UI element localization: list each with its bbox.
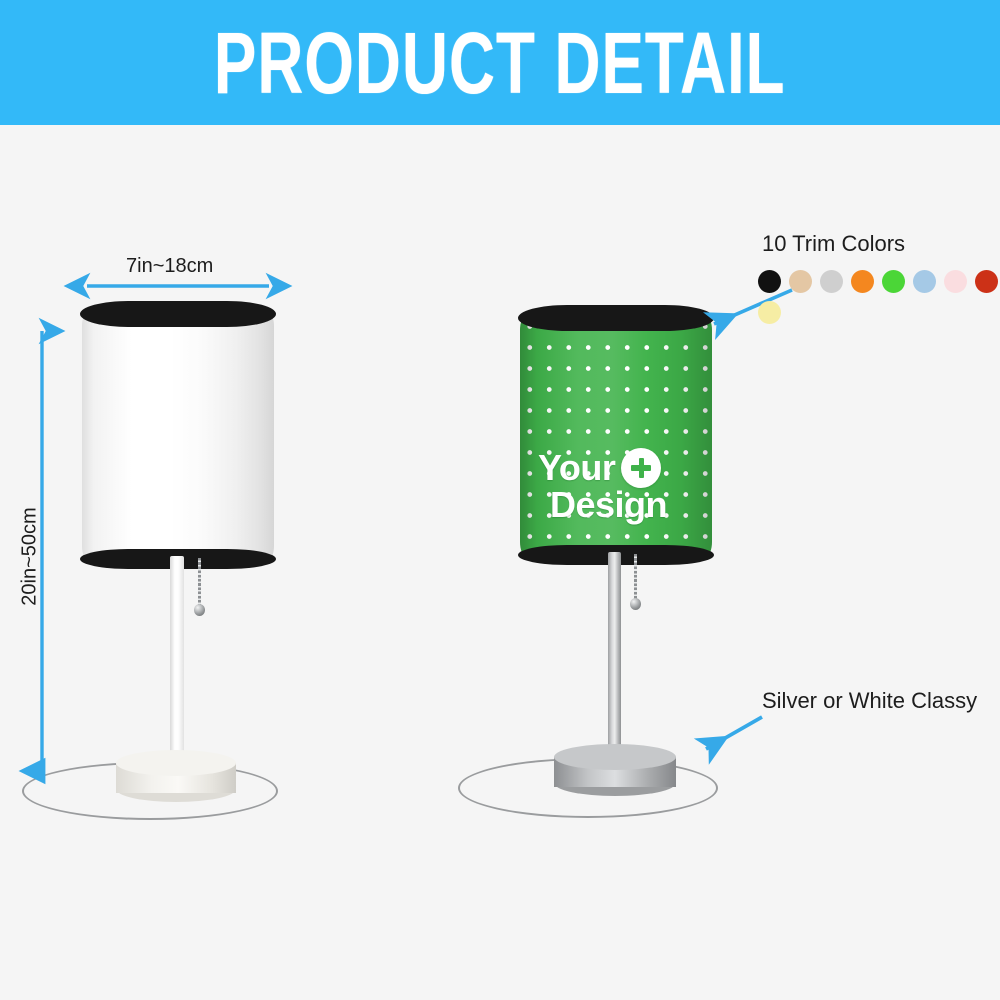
white-lamp-pull-chain[interactable] xyxy=(198,558,212,620)
pull-chain-beads xyxy=(634,554,637,600)
swatch-orange[interactable] xyxy=(851,270,874,293)
swatch-tan[interactable] xyxy=(789,270,812,293)
white-lamp-pole xyxy=(170,556,184,764)
design-line-2: Design xyxy=(538,488,667,522)
white-base-top xyxy=(116,750,236,776)
pull-chain-beads xyxy=(198,558,201,606)
swatch-pale-yellow[interactable] xyxy=(758,301,781,324)
swatch-black[interactable] xyxy=(758,270,781,293)
trim-swatch-row-1 xyxy=(758,270,998,293)
width-dimension-label: 7in~18cm xyxy=(126,255,213,278)
green-shade-top-trim xyxy=(518,305,714,331)
design-placeholder: Your Design xyxy=(538,448,667,522)
page-title: PRODUCT DETAIL xyxy=(214,19,786,106)
trim-colors-title: 10 Trim Colors xyxy=(762,231,905,257)
trim-swatch-row-2 xyxy=(758,301,998,324)
white-shade-surface xyxy=(82,312,274,560)
width-dimension-arrow xyxy=(78,276,278,296)
height-dimension-label: 20in~50cm xyxy=(19,487,42,627)
swatch-green[interactable] xyxy=(882,270,905,293)
base-finish-label: Silver or White Classy xyxy=(762,688,977,714)
green-lamp-pole xyxy=(608,552,621,760)
white-lamp-shade xyxy=(82,312,274,560)
swatch-red[interactable] xyxy=(975,270,998,293)
green-shade-surface: Your Design xyxy=(520,316,712,556)
trim-color-swatches xyxy=(758,270,998,332)
pull-chain-knob xyxy=(630,598,641,610)
silver-base-top xyxy=(554,744,676,770)
product-detail-page: PRODUCT DETAIL 7in~18cm xyxy=(0,0,1000,1000)
base-finish-arrow xyxy=(692,712,770,760)
plus-icon xyxy=(621,448,661,488)
pull-chain-knob xyxy=(194,604,205,616)
page-header-banner: PRODUCT DETAIL xyxy=(0,0,1000,125)
swatch-pink[interactable] xyxy=(944,270,967,293)
swatch-light-gray[interactable] xyxy=(820,270,843,293)
green-lamp-pull-chain[interactable] xyxy=(634,554,648,616)
design-line-1: Your xyxy=(538,451,615,485)
green-lamp-shade: Your Design xyxy=(520,316,712,556)
green-lamp-base xyxy=(554,744,676,800)
white-lamp-base xyxy=(116,750,236,806)
white-shade-top-trim xyxy=(80,301,276,327)
swatch-light-blue[interactable] xyxy=(913,270,936,293)
